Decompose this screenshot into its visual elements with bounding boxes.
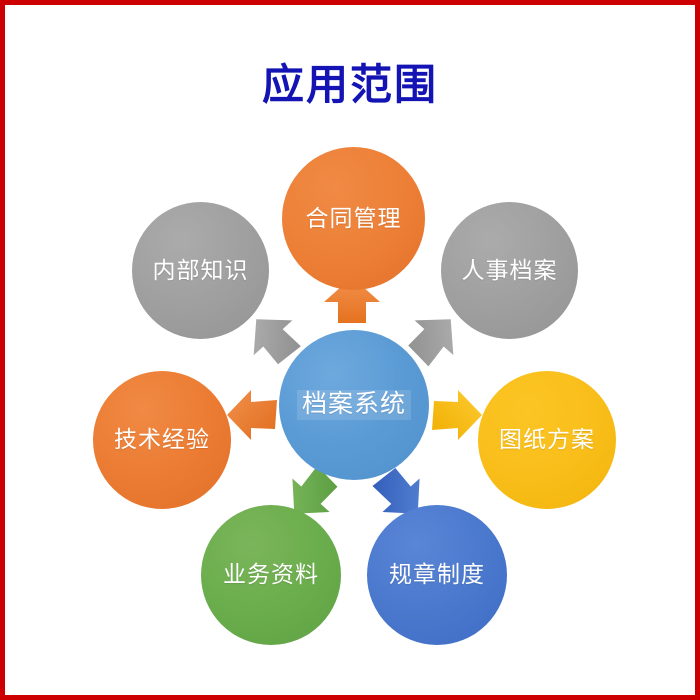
node-label: 内部知识 [153, 258, 249, 283]
node-personnel-files[interactable]: 人事档案 [441, 202, 578, 339]
node-label: 图纸方案 [499, 427, 595, 452]
node-business-materials[interactable]: 业务资料 [201, 505, 341, 645]
node-rules-regulations[interactable]: 规章制度 [367, 505, 507, 645]
diagram-frame: 应用范围 [0, 0, 700, 700]
node-technical-experience[interactable]: 技术经验 [93, 371, 231, 509]
node-label: 规章制度 [389, 562, 485, 587]
node-internal-knowledge[interactable]: 内部知识 [132, 202, 269, 339]
node-label: 合同管理 [306, 206, 402, 231]
node-label: 技术经验 [114, 427, 210, 452]
node-label: 业务资料 [223, 562, 319, 587]
arrow-to-drawing-plans-icon [425, 384, 485, 446]
center-node-label: 档案系统 [297, 390, 411, 420]
node-label: 人事档案 [462, 258, 558, 283]
diagram-canvas: 合同管理 内部知识 人事档案 技术经验 图纸方案 业务资料 规章制度 档案系统 [5, 5, 695, 695]
node-center-archive-system[interactable]: 档案系统 [279, 330, 429, 480]
node-contract-management[interactable]: 合同管理 [282, 147, 425, 290]
node-drawing-plans[interactable]: 图纸方案 [478, 371, 616, 509]
arrow-to-technical-experience-icon [224, 384, 284, 446]
